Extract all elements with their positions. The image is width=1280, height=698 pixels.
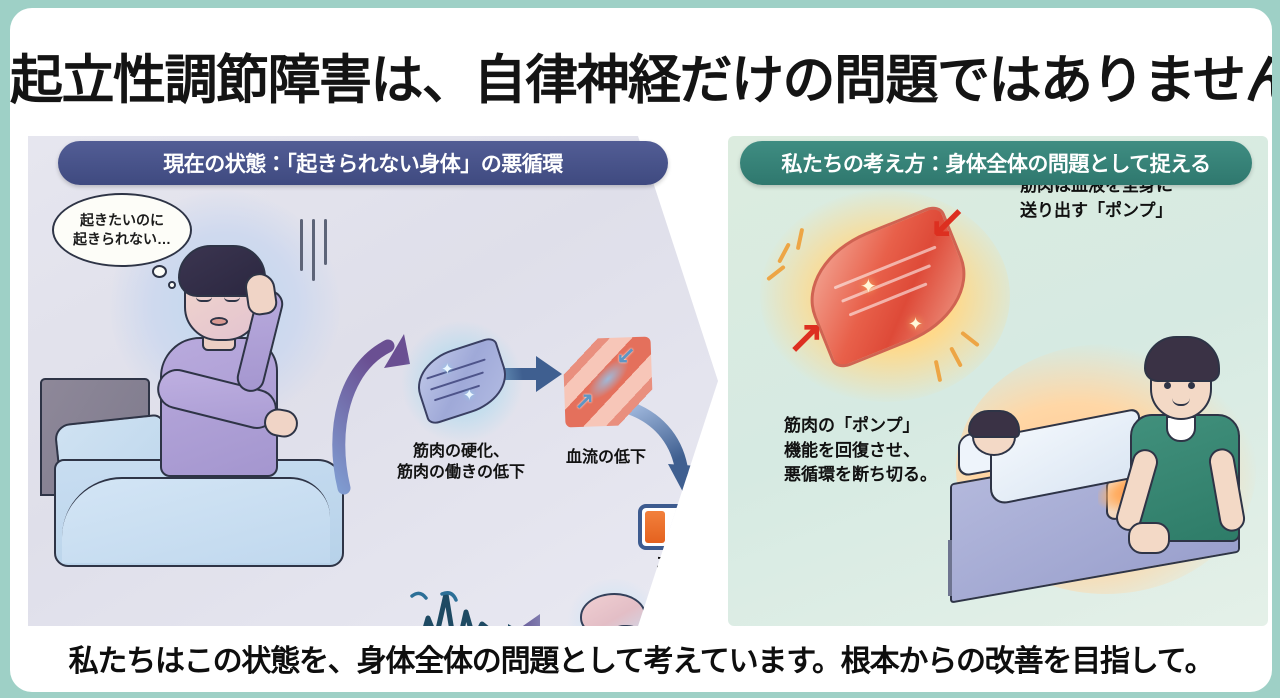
bottom-caption: 私たちはこの状態を、身体全体の問題として考えています。根本からの改善を目指して。: [10, 636, 1272, 680]
stomach-icon: [650, 604, 718, 626]
speech-bubble: 起きたいのに 起きられない…: [52, 193, 192, 267]
speech-bubble-line-1: 起きたいのに: [80, 211, 164, 230]
left-panel-vicious-cycle: 起きたいのに 起きられない…: [28, 136, 718, 626]
treatment-table-leg: [948, 540, 952, 596]
brain-icon: [576, 591, 652, 626]
speech-bubble-tail: [152, 265, 167, 278]
right-panel-header-pill: 私たちの考え方：身体全体の問題として捉える: [740, 141, 1252, 185]
speech-bubble-dot: [168, 281, 176, 289]
stiff-muscle-icon: ✦ ✦: [411, 334, 513, 430]
person-left-eye: [196, 297, 212, 302]
left-panel-header-pill: 現在の状態：「起きられない身体」の悪循環: [58, 141, 668, 185]
therapist-hair: [1144, 336, 1220, 382]
left-panel-content: 起きたいのに 起きられない…: [28, 136, 718, 626]
cycle-label-energy: エネルギー 代謝の低下: [616, 554, 718, 596]
right-panel-our-approach: ↙ ↗ ✦ ✦ 筋肉は血液を全身に 送り出す「ポンプ」: [728, 136, 1268, 626]
poster-card: 起立性調節障害は、自律神経だけの問題ではありません。 起きたいのに 起きられない…: [10, 8, 1272, 692]
therapist-figure: [1122, 326, 1252, 566]
person-mouth: [210, 317, 228, 326]
therapist-right-eye: [1188, 382, 1195, 389]
treatment-note-text: 筋肉の「ポンプ」 機能を回復させ、 悪循環を断ち切る。: [784, 414, 937, 488]
distress-lines-icon: [296, 219, 336, 283]
cycle-label-bloodflow: 血流の低下: [536, 448, 676, 469]
tired-person-figure: [150, 239, 302, 499]
patient-hair: [968, 410, 1020, 438]
constricted-blood-vessel-icon: ↙ ↗: [558, 332, 658, 432]
speech-bubble-line-2: 起きられない…: [73, 230, 171, 249]
person-right-eye: [224, 297, 240, 302]
person-right-hand-on-head: [243, 271, 279, 317]
page-title: 起立性調節障害は、自律神経だけの問題ではありません。: [10, 38, 1272, 114]
infographic-poster: 起立性調節障害は、自律神経だけの問題ではありません。 起きたいのに 起きられない…: [0, 0, 1280, 698]
therapist-hands: [1128, 522, 1170, 554]
bedridden-person-illustration: 起きたいのに 起きられない…: [40, 181, 360, 601]
therapist-left-eye: [1164, 382, 1171, 389]
cycle-label-muscle: 筋肉の硬化、 筋肉の働きの低下: [366, 442, 556, 484]
massage-treatment-illustration: [946, 326, 1268, 626]
low-battery-icon: [638, 504, 718, 550]
ekg-waveform-icon: [396, 588, 528, 626]
